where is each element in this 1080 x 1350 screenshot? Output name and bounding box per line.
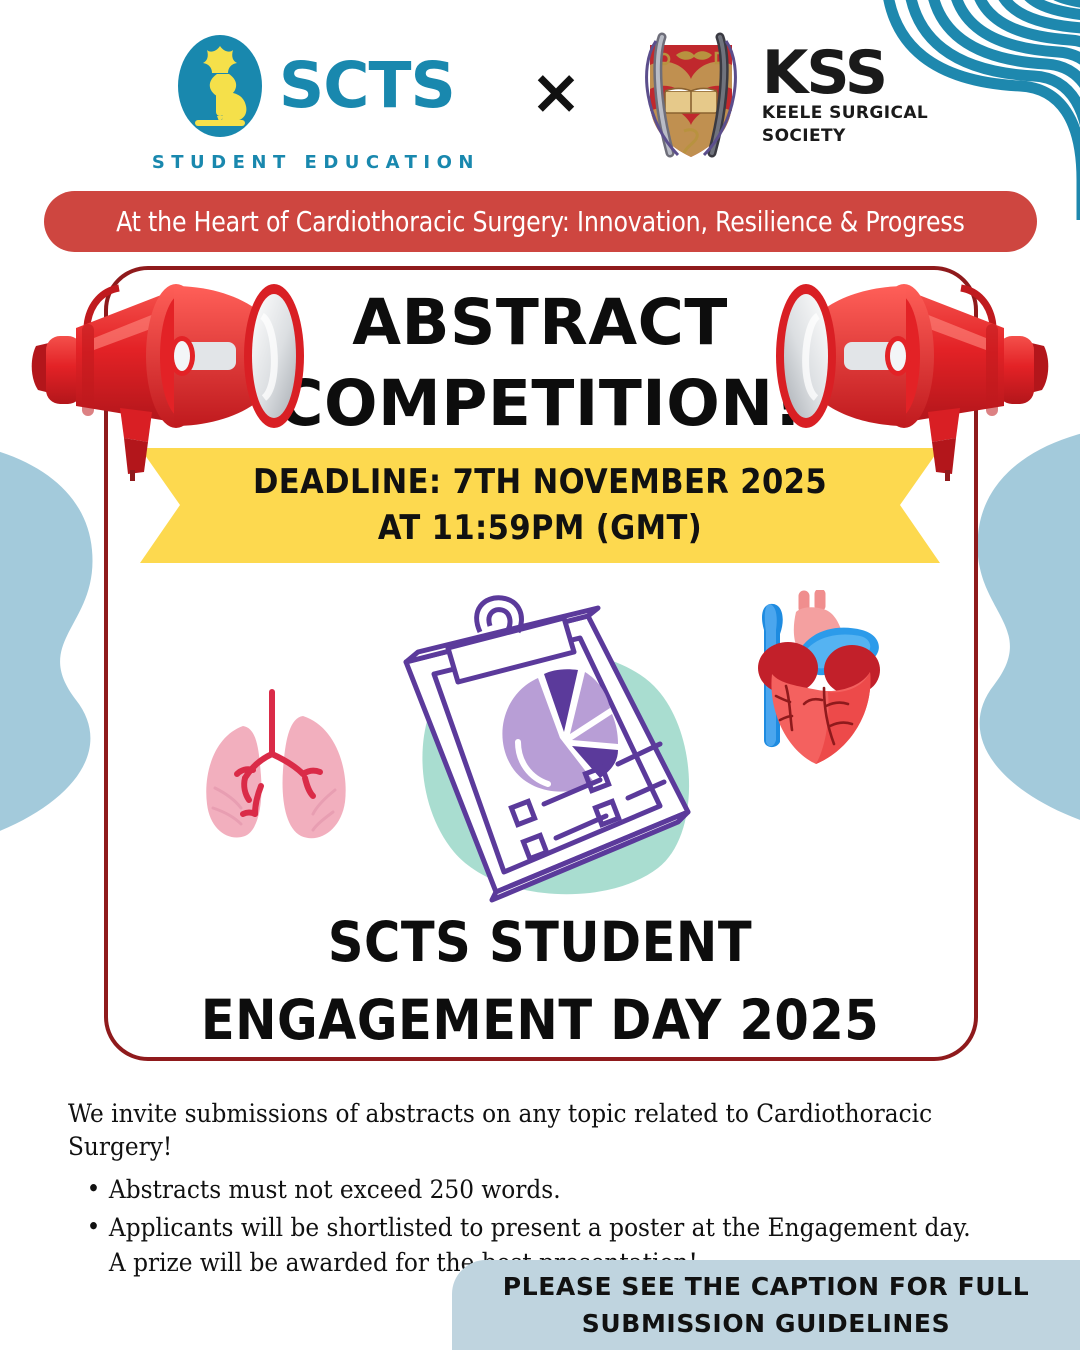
submission-details: We invite submissions of abstracts on an… <box>68 1098 1063 1283</box>
megaphone-left-icon <box>24 246 329 481</box>
event-title: SCTS STUDENT ENGAGEMENT DAY 2025 <box>0 903 1080 1059</box>
lungs-icon <box>183 680 368 855</box>
event-title-line1: SCTS STUDENT <box>0 903 1080 981</box>
header-logos: SCTS STUDENT EDUCATION × <box>0 28 1080 178</box>
caption-notice-line1: PLEASE SEE THE CAPTION FOR FULL <box>503 1268 1029 1306</box>
scts-wordmark: SCTS <box>279 54 455 117</box>
collaboration-cross-icon: × <box>530 61 582 123</box>
scts-subtitle: STUDENT EDUCATION <box>152 152 480 173</box>
theme-banner: At the Heart of Cardiothoracic Surgery: … <box>44 191 1037 252</box>
caption-notice-line2: SUBMISSION GUIDELINES <box>582 1305 950 1343</box>
theme-banner-text: At the Heart of Cardiothoracic Surgery: … <box>116 205 965 238</box>
anatomical-heart-icon <box>742 590 890 770</box>
scts-logo: SCTS STUDENT EDUCATION <box>152 34 480 173</box>
intro-text: We invite submissions of abstracts on an… <box>68 1098 993 1163</box>
kss-wordmark: KSS <box>762 45 928 102</box>
kss-subtitle-line1: KEELE SURGICAL <box>762 102 928 125</box>
caption-notice: PLEASE SEE THE CAPTION FOR FULL SUBMISSI… <box>452 1260 1080 1350</box>
clipboard-pie-chart-icon <box>392 590 708 906</box>
kss-crest-icon <box>632 31 750 161</box>
scts-emblem-icon <box>177 34 263 138</box>
event-title-line2: ENGAGEMENT DAY 2025 <box>0 981 1080 1059</box>
kss-logo: KSS KEELE SURGICAL SOCIETY <box>632 31 928 161</box>
megaphone-right-icon <box>751 246 1056 481</box>
illustration-row <box>0 585 1080 905</box>
deadline-line2: AT 11:59PM (GMT) <box>378 506 702 552</box>
list-item: Abstracts must not exceed 250 words. <box>68 1172 993 1208</box>
deadline-line1: DEADLINE: 7TH NOVEMBER 2025 <box>253 460 827 506</box>
kss-subtitle-line2: SOCIETY <box>762 125 928 148</box>
